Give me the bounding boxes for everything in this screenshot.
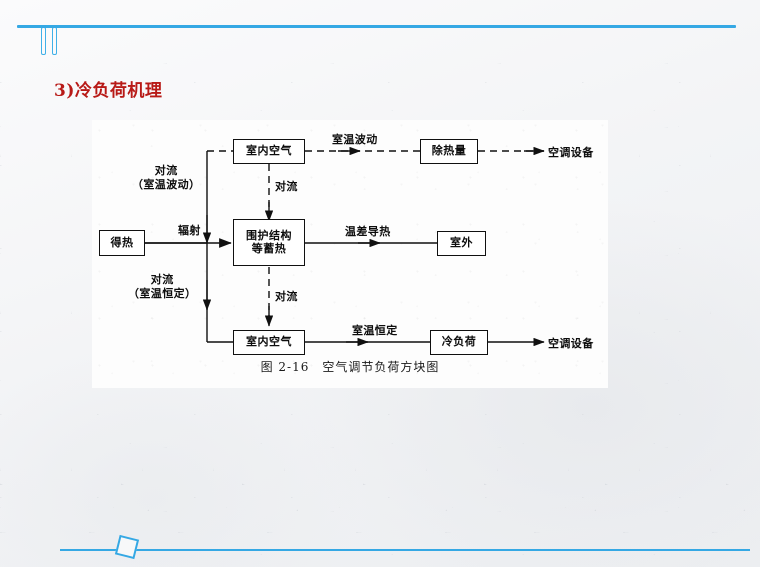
terminal-hvac-equipment-bottom: 空调设备	[548, 335, 594, 351]
edge-label-radiation: 辐射	[178, 224, 201, 238]
node-indoor-air-bottom: 室内空气	[233, 330, 305, 355]
footer-rule	[60, 549, 750, 551]
decoration-bar-right	[52, 27, 57, 55]
edge-label-convection-fluctuation: 对流 （室温波动）	[132, 164, 200, 192]
node-indoor-air-top: 室内空气	[233, 139, 305, 164]
terminal-hvac-equipment-top: 空调设备	[548, 144, 594, 160]
edge-label-convection-constant: 对流 （室温恒定）	[128, 273, 196, 301]
figure-panel: 室内空气 得热 围护结构 等蓄热 室内空气 除热量 室外 冷负荷 对流 （室温波…	[92, 120, 608, 388]
footer-diamond-decoration	[115, 535, 139, 559]
edge-label-convection-bottom: 对流	[275, 290, 298, 304]
node-heat-removal: 除热量	[420, 139, 478, 164]
diagram-connectors	[92, 120, 608, 388]
node-envelope-storage: 围护结构 等蓄热	[233, 219, 305, 266]
edge-label-convection-top: 对流	[275, 180, 298, 194]
edge-label-room-temp-fluctuation: 室温波动	[332, 133, 378, 147]
header-rule	[17, 25, 736, 28]
node-cooling-load: 冷负荷	[430, 330, 488, 355]
decoration-bar-left	[41, 27, 46, 55]
node-outdoor: 室外	[437, 231, 486, 256]
figure-caption: 图 2-16 空气调节负荷方块图	[92, 358, 608, 375]
node-heat-gain: 得热	[99, 230, 145, 256]
slide-canvas: 3)冷负荷机理	[0, 0, 760, 567]
page-title: 3)冷负荷机理	[54, 76, 162, 101]
edge-label-temperature-difference-conduction: 温差导热	[345, 225, 391, 239]
edge-label-room-temp-constant: 室温恒定	[352, 324, 398, 338]
